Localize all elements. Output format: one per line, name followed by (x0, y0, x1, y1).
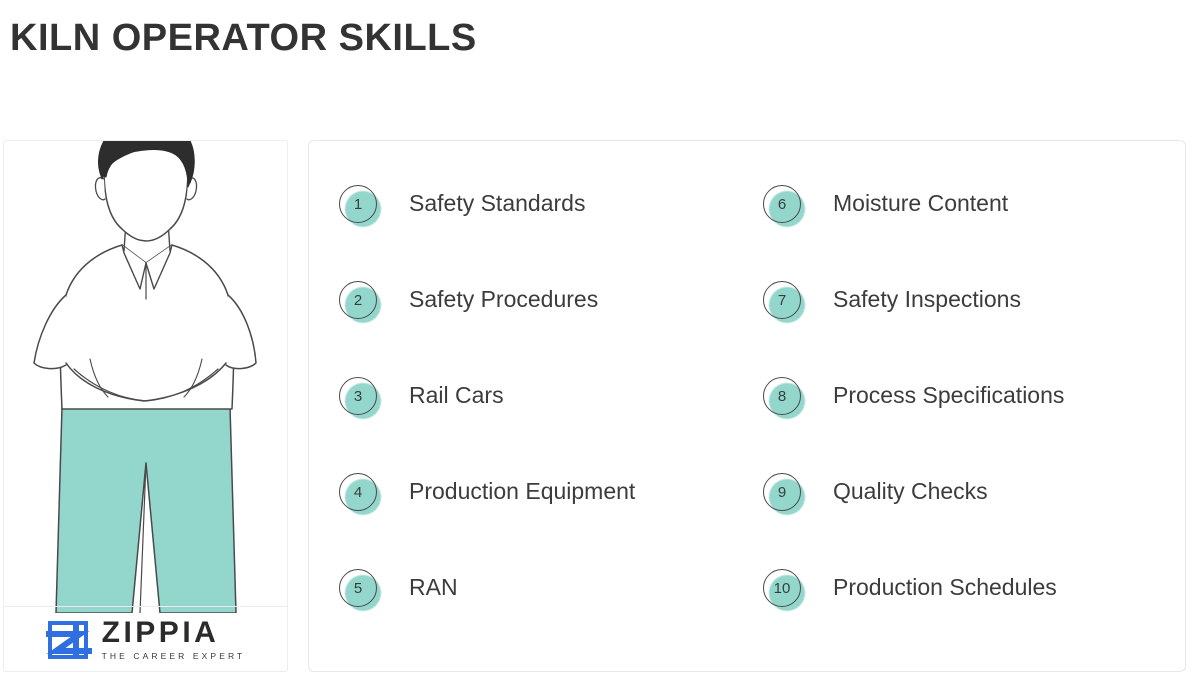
zippia-wordmark: ZIPPIA (102, 618, 220, 648)
skill-label: Production Equipment (409, 471, 635, 511)
skill-item[interactable]: 2 Safety Procedures (337, 279, 757, 375)
skill-label: Moisture Content (833, 183, 1008, 223)
skill-number: 2 (339, 281, 377, 319)
skill-item[interactable]: 1 Safety Standards (337, 183, 757, 279)
skill-item[interactable]: 9 Quality Checks (761, 471, 1181, 567)
skill-number: 9 (763, 473, 801, 511)
skill-number-badge: 7 (761, 279, 807, 325)
skill-number: 5 (339, 569, 377, 607)
skill-number: 4 (339, 473, 377, 511)
zippia-wordmark-group: ZIPPIA THE CAREER EXPERT (102, 618, 246, 662)
skill-number-badge: 10 (761, 567, 807, 613)
skill-number: 8 (763, 377, 801, 415)
skill-number-badge: 9 (761, 471, 807, 517)
zippia-tagline: THE CAREER EXPERT (102, 650, 246, 662)
skills-column-right: 6 Moisture Content 7 Safety Inspections … (761, 183, 1181, 663)
skill-label: Safety Procedures (409, 279, 598, 319)
skill-item[interactable]: 3 Rail Cars (337, 375, 757, 471)
skill-number-badge: 4 (337, 471, 383, 517)
skills-column-left: 1 Safety Standards 2 Safety Procedures 3 (337, 183, 757, 663)
zippia-z-logo-icon (46, 617, 92, 663)
skill-item[interactable]: 10 Production Schedules (761, 567, 1181, 663)
person-illustration (4, 140, 288, 613)
skill-label: Process Specifications (833, 375, 1064, 415)
skill-number: 3 (339, 377, 377, 415)
skill-label: Quality Checks (833, 471, 988, 511)
skill-number-badge: 3 (337, 375, 383, 421)
skill-label: Safety Standards (409, 183, 585, 223)
skills-panel: 1 Safety Standards 2 Safety Procedures 3 (308, 140, 1186, 672)
skill-number-badge: 1 (337, 183, 383, 229)
skill-number-badge: 5 (337, 567, 383, 613)
skill-number-badge: 2 (337, 279, 383, 325)
skill-number: 1 (339, 185, 377, 223)
skill-number: 7 (763, 281, 801, 319)
skill-label: Production Schedules (833, 567, 1057, 607)
skill-item[interactable]: 5 RAN (337, 567, 757, 663)
skill-item[interactable]: 7 Safety Inspections (761, 279, 1181, 375)
skill-item[interactable]: 6 Moisture Content (761, 183, 1181, 279)
skill-number: 6 (763, 185, 801, 223)
skill-label: RAN (409, 567, 458, 607)
infographic-page: KILN OPERATOR SKILLS (0, 0, 1200, 675)
page-title: KILN OPERATOR SKILLS (10, 14, 477, 62)
skill-number-badge: 6 (761, 183, 807, 229)
zippia-logo: ZIPPIA THE CAREER EXPERT (4, 607, 287, 672)
skill-label: Rail Cars (409, 375, 504, 415)
illustration-panel: ZIPPIA THE CAREER EXPERT (3, 140, 288, 672)
skill-item[interactable]: 8 Process Specifications (761, 375, 1181, 471)
skill-item[interactable]: 4 Production Equipment (337, 471, 757, 567)
skill-number: 10 (763, 569, 801, 607)
skill-number-badge: 8 (761, 375, 807, 421)
skill-label: Safety Inspections (833, 279, 1021, 319)
